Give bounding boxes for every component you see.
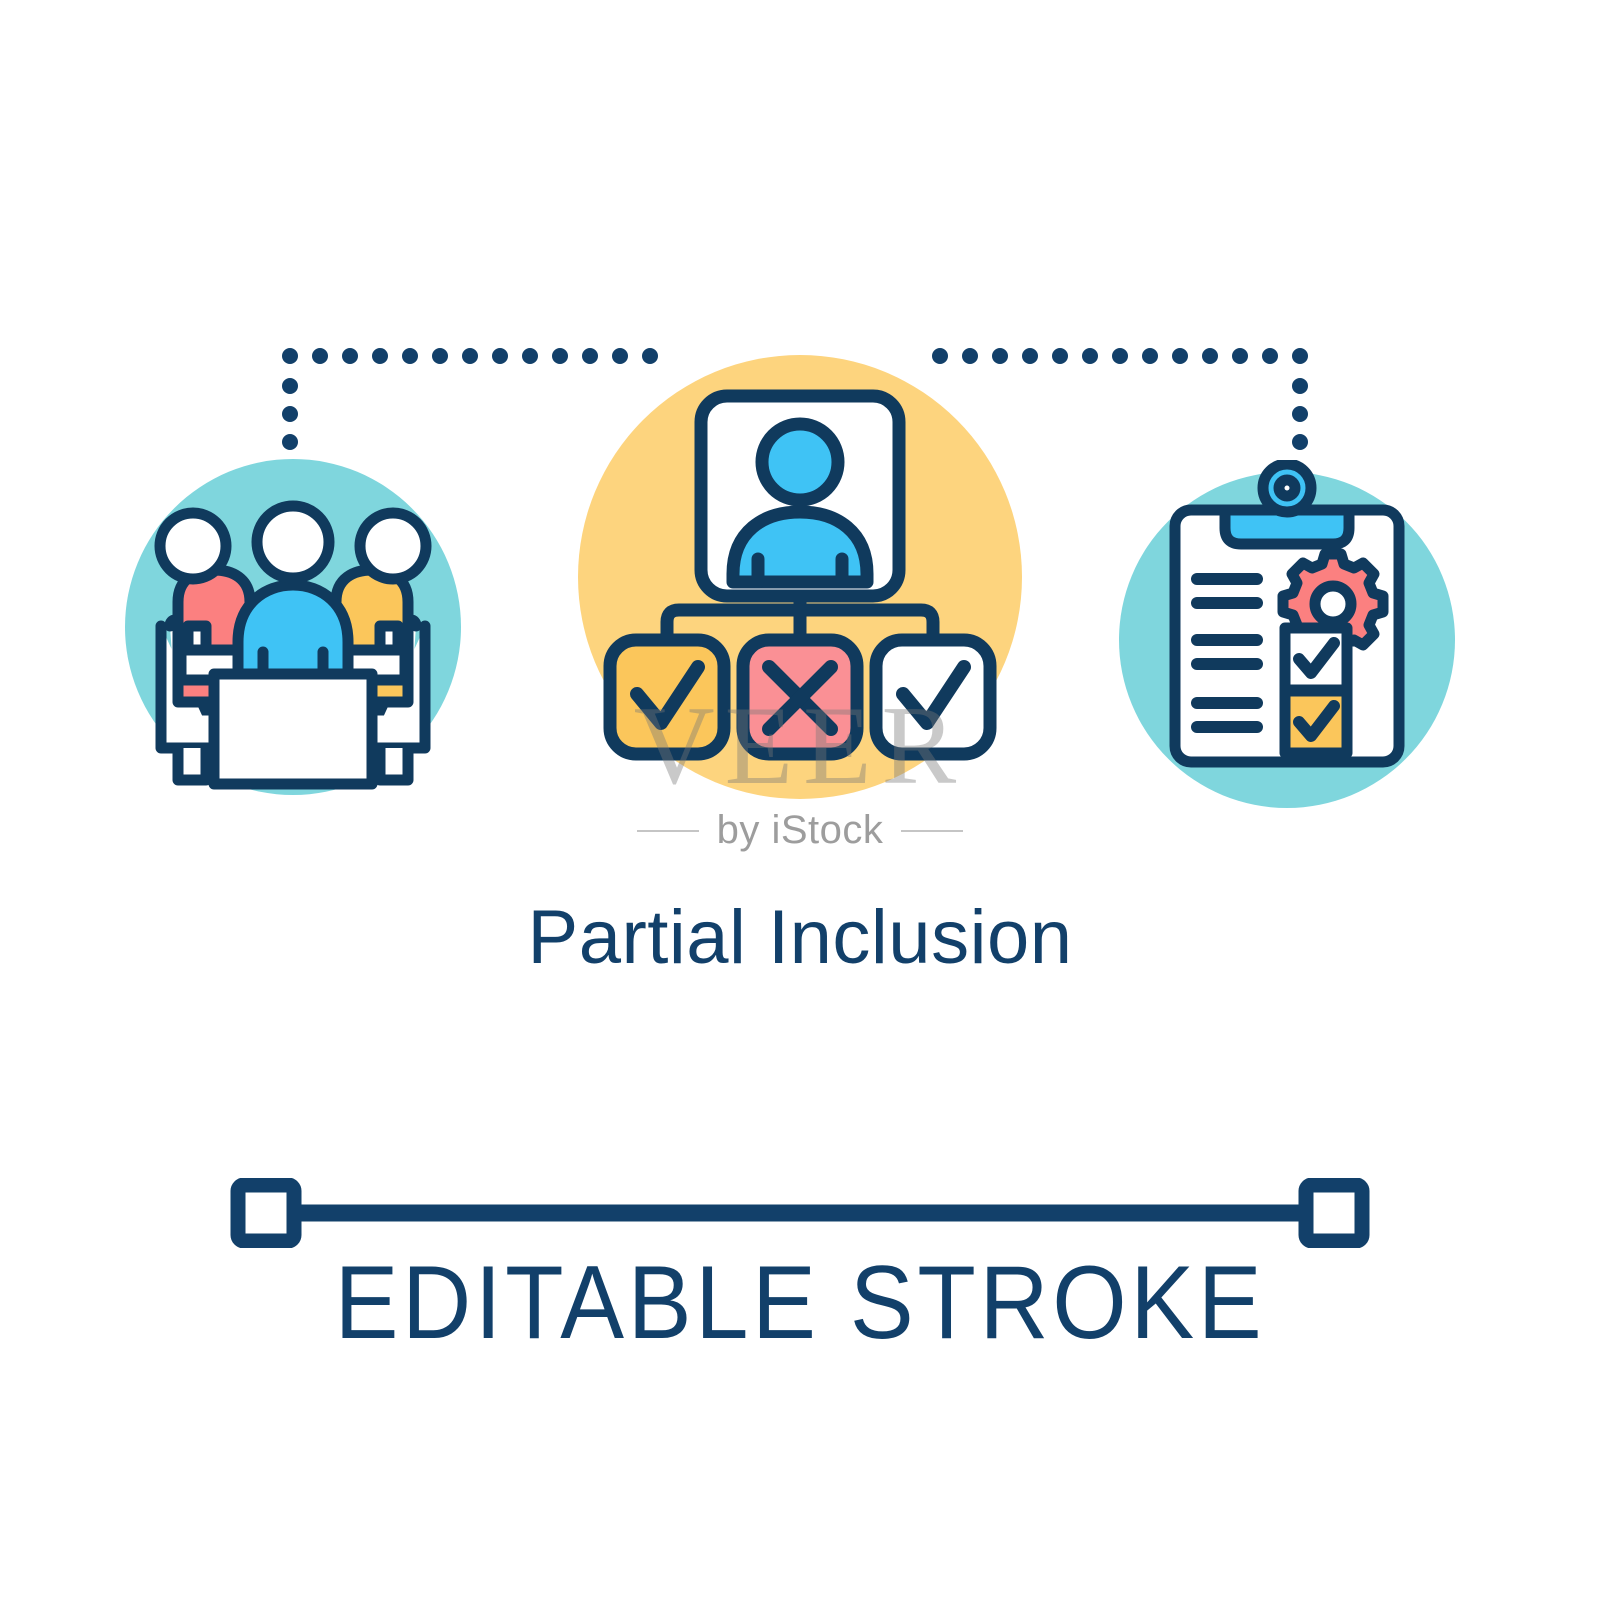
person-right-head: [360, 513, 426, 579]
option-rejected-red: [743, 640, 857, 754]
checklist-icon: [1112, 460, 1462, 810]
hierarchy-icon: [555, 352, 1045, 802]
watermark-rule-right: [901, 830, 963, 832]
person-center-head: [257, 506, 329, 578]
meeting-icon: [118, 452, 468, 802]
ruler-handle-left[interactable]: [238, 1185, 294, 1241]
table: [214, 674, 372, 784]
person-card: [701, 396, 899, 596]
illustration-canvas: VEER by iStock Partial Inclusion EDITABL…: [0, 0, 1600, 1600]
option-approved-yellow: [610, 640, 724, 754]
person-left-head: [160, 513, 226, 579]
editable-stroke-caption: EDITABLE STROKE: [64, 1238, 1536, 1368]
option-approved-white: [876, 640, 990, 754]
page-title: Partial Inclusion: [0, 900, 1600, 976]
person-card-avatar-head: [762, 424, 838, 500]
ruler-handle-right[interactable]: [1306, 1185, 1362, 1241]
watermark-rule-left: [637, 830, 699, 832]
watermark-attribution: by iStock: [717, 808, 884, 853]
